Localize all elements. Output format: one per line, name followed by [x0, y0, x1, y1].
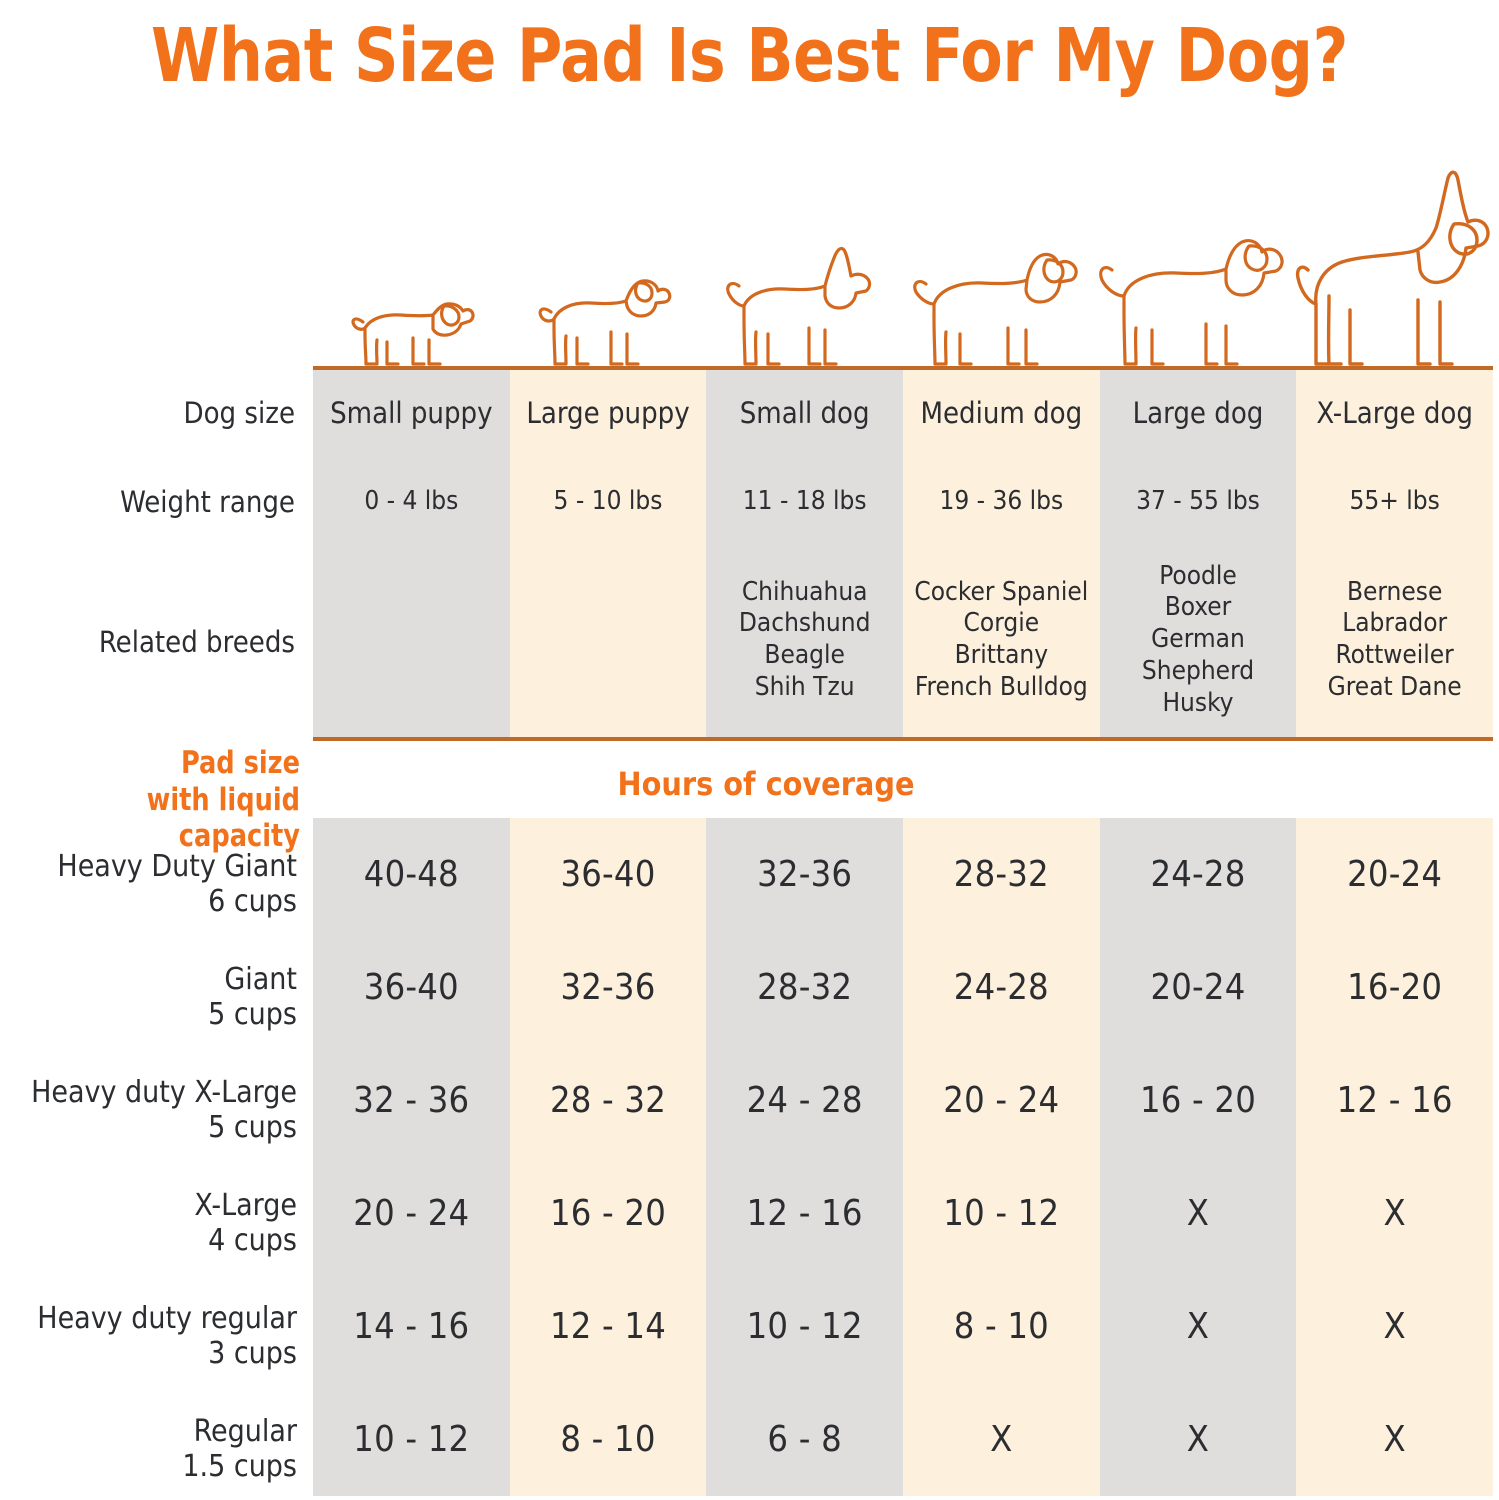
puppy-small-icon — [341, 272, 481, 368]
pad-row-label: Regular 1.5 cups — [0, 1415, 297, 1485]
dog-medium-icon — [908, 236, 1083, 368]
table-cell: 24 - 28 — [706, 1044, 903, 1157]
table-cell: 40-48 — [313, 818, 510, 931]
table-cell: 16-20 — [1296, 931, 1493, 1044]
pad-row-name: X-Large — [0, 1189, 297, 1224]
table-cell: 28-32 — [903, 818, 1100, 931]
table-cell: 8 - 10 — [903, 1270, 1100, 1383]
dog-cell-medium-dog — [898, 168, 1093, 368]
table-cell: X — [1296, 1157, 1493, 1270]
hours-of-coverage-table: 40-48 36-40 32 - 36 20 - 24 14 - 16 10 -… — [313, 818, 1493, 1496]
weight-range-value: 0 - 4 lbs — [313, 455, 510, 547]
breed-name: Labrador — [1342, 608, 1447, 640]
data-column-xlarge-dog: 20-24 16-20 12 - 16 X X X — [1296, 818, 1493, 1496]
data-column-large-dog: 24-28 20-24 16 - 20 X X X — [1100, 818, 1297, 1496]
dog-size-value: Small dog — [706, 370, 903, 455]
dog-cell-small-dog — [703, 168, 898, 368]
breed-name: Rottweiler — [1336, 640, 1454, 672]
table-cell: 24-28 — [903, 931, 1100, 1044]
table-cell: 32 - 36 — [313, 1044, 510, 1157]
table-cell: X — [1100, 1157, 1297, 1270]
pad-row-label: Giant 5 cups — [0, 963, 297, 1033]
pad-row-name: Heavy Duty Giant — [0, 850, 297, 885]
weight-range-value: 19 - 36 lbs — [903, 455, 1100, 547]
table-cell: 8 - 10 — [510, 1383, 707, 1496]
table-cell: 16 - 20 — [1100, 1044, 1297, 1157]
dog-cell-large-puppy — [508, 168, 703, 368]
table-cell: 28-32 — [706, 931, 903, 1044]
table-cell: 6 - 8 — [706, 1383, 903, 1496]
pad-row-label: Heavy duty regular 3 cups — [0, 1302, 297, 1372]
breed-name: Corgie — [964, 608, 1040, 640]
table-cell: 20-24 — [1296, 818, 1493, 931]
breed-name: Brittany — [955, 640, 1049, 672]
pad-row-label: X-Large 4 cups — [0, 1189, 297, 1259]
table-cell: X — [1296, 1270, 1493, 1383]
table-cell: 12 - 16 — [706, 1157, 903, 1270]
table-cell: X — [1100, 1383, 1297, 1496]
table-cell: 24-28 — [1100, 818, 1297, 931]
table-cell: 16 - 20 — [510, 1157, 707, 1270]
table-cell: 10 - 12 — [313, 1383, 510, 1496]
breeds-list: Cocker SpanielCorgieBrittanyFrench Bulld… — [903, 547, 1100, 737]
pad-row-capacity: 3 cups — [0, 1337, 297, 1372]
weight-range-value: 11 - 18 lbs — [706, 455, 903, 547]
pad-row-capacity: 4 cups — [0, 1224, 297, 1259]
hours-of-coverage-header: Hours of coverage — [176, 765, 1356, 803]
breeds-list — [313, 547, 510, 737]
row-label-weight-range: Weight range — [0, 485, 295, 519]
data-column-large-puppy: 36-40 32-36 28 - 32 16 - 20 12 - 14 8 - … — [510, 818, 707, 1496]
weight-range-value: 5 - 10 lbs — [510, 455, 707, 547]
dog-size-value: X-Large dog — [1296, 370, 1493, 455]
dog-xlarge-icon — [1288, 168, 1493, 368]
table-cell: 36-40 — [510, 818, 707, 931]
table-cell: X — [903, 1383, 1100, 1496]
row-label-dog-size: Dog size — [0, 396, 295, 430]
dog-size-value: Large puppy — [510, 370, 707, 455]
section-divider — [313, 737, 1493, 741]
breed-name: Chihuahua — [742, 577, 868, 609]
column-xlarge-dog: X-Large dog 55+ lbs BerneseLabradorRottw… — [1296, 370, 1493, 737]
breed-name: Poodle — [1159, 561, 1237, 593]
table-cell: X — [1296, 1383, 1493, 1496]
column-small-puppy: Small puppy 0 - 4 lbs — [313, 370, 510, 737]
dog-cell-large-dog — [1093, 168, 1288, 368]
column-small-dog: Small dog 11 - 18 lbs ChihuahuaDachshund… — [706, 370, 903, 737]
table-cell: 28 - 32 — [510, 1044, 707, 1157]
breeds-list: PoodleBoxerGermanShepherdHusky — [1100, 547, 1297, 737]
pad-row-name: Heavy duty X-Large — [0, 1076, 297, 1111]
data-column-small-dog: 32-36 28-32 24 - 28 12 - 16 10 - 12 6 - … — [706, 818, 903, 1496]
dog-large-icon — [1096, 226, 1286, 368]
pad-row-label: Heavy duty X-Large 5 cups — [0, 1076, 297, 1146]
table-cell: 12 - 16 — [1296, 1044, 1493, 1157]
page-title: What Size Pad Is Best For My Dog? — [52, 0, 1446, 112]
table-cell: 32-36 — [706, 818, 903, 931]
row-label-related-breeds: Related breeds — [0, 625, 295, 659]
table-cell: 14 - 16 — [313, 1270, 510, 1383]
table-cell: X — [1100, 1270, 1297, 1383]
breed-name: Bernese — [1347, 577, 1442, 609]
breed-name: Beagle — [764, 640, 845, 672]
dog-size-value: Large dog — [1100, 370, 1297, 455]
pad-row-capacity: 5 cups — [0, 1111, 297, 1146]
table-cell: 36-40 — [313, 931, 510, 1044]
breed-name: Dachshund — [739, 608, 871, 640]
table-cell: 20-24 — [1100, 931, 1297, 1044]
pad-row-name: Regular — [0, 1415, 297, 1450]
dog-cell-xlarge-dog — [1288, 168, 1493, 368]
column-large-puppy: Large puppy 5 - 10 lbs — [510, 370, 707, 737]
weight-range-value: 37 - 55 lbs — [1100, 455, 1297, 547]
dog-size-value: Medium dog — [903, 370, 1100, 455]
pad-row-capacity: 1.5 cups — [0, 1450, 297, 1485]
dog-size-value: Small puppy — [313, 370, 510, 455]
data-column-small-puppy: 40-48 36-40 32 - 36 20 - 24 14 - 16 10 -… — [313, 818, 510, 1496]
breed-name: Shih Tzu — [755, 672, 855, 704]
breeds-list — [510, 547, 707, 737]
pad-row-name: Giant — [0, 963, 297, 998]
breed-name: Husky — [1162, 688, 1233, 720]
column-medium-dog: Medium dog 19 - 36 lbs Cocker SpanielCor… — [903, 370, 1100, 737]
table-cell: 20 - 24 — [313, 1157, 510, 1270]
pad-row-capacity: 6 cups — [0, 885, 297, 920]
table-cell: 10 - 12 — [903, 1157, 1100, 1270]
breeds-list: BerneseLabradorRottweilerGreat Dane — [1296, 547, 1493, 737]
breed-name: Great Dane — [1328, 672, 1462, 704]
breed-name: German — [1151, 624, 1245, 656]
pad-row-capacity: 5 cups — [0, 998, 297, 1033]
pad-row-name: Heavy duty regular — [0, 1302, 297, 1337]
breeds-list: ChihuahuaDachshundBeagleShih Tzu — [706, 547, 903, 737]
breed-name: Cocker Spaniel — [914, 577, 1088, 609]
puppy-large-icon — [531, 256, 681, 368]
table-cell: 20 - 24 — [903, 1044, 1100, 1157]
table-cell: 10 - 12 — [706, 1270, 903, 1383]
dog-small-icon — [721, 240, 881, 368]
table-cell: 32-36 — [510, 931, 707, 1044]
table-cell: 12 - 14 — [510, 1270, 707, 1383]
dog-illustration-row — [313, 168, 1493, 368]
breed-name: Shepherd — [1142, 656, 1254, 688]
pad-row-label: Heavy Duty Giant 6 cups — [0, 850, 297, 920]
column-large-dog: Large dog 37 - 55 lbs PoodleBoxerGermanS… — [1100, 370, 1297, 737]
data-column-medium-dog: 28-32 24-28 20 - 24 10 - 12 8 - 10 X — [903, 818, 1100, 1496]
breed-name: Boxer — [1165, 592, 1232, 624]
dog-cell-small-puppy — [313, 168, 508, 368]
weight-range-value: 55+ lbs — [1296, 455, 1493, 547]
dog-info-band: Small puppy 0 - 4 lbs Large puppy 5 - 10… — [313, 370, 1493, 737]
breed-name: French Bulldog — [915, 672, 1088, 704]
